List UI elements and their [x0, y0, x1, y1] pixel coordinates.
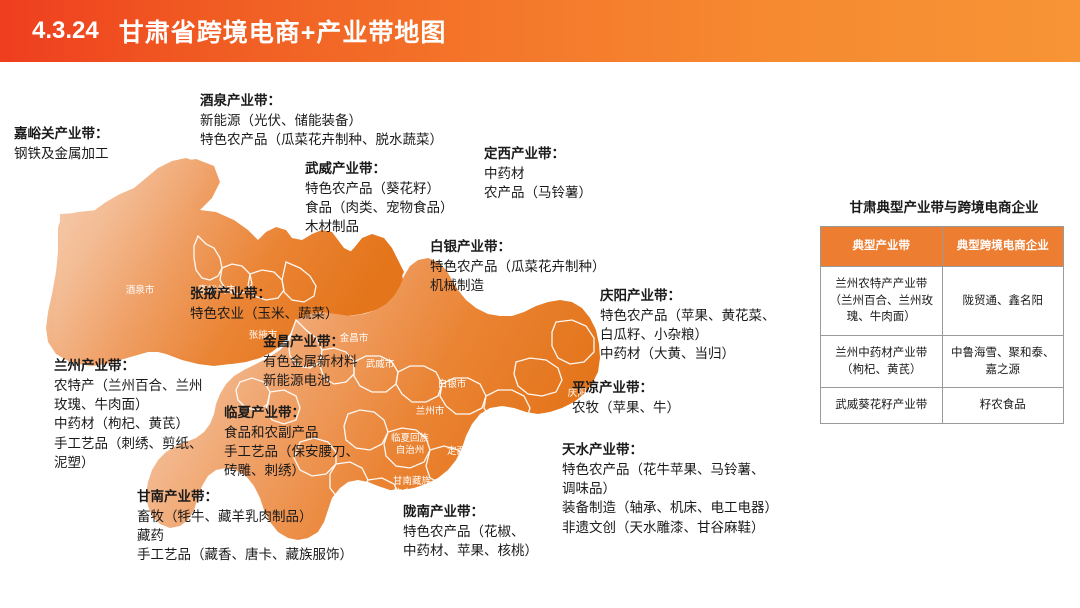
annotation-line: 农特产（兰州百合、兰州	[54, 376, 203, 395]
page-header: 4.3.24 甘肃省跨境电商+产业带地图	[0, 0, 1080, 62]
city-label-gannan-1: 甘南藏族	[393, 475, 432, 487]
annotation-title: 武威产业带：	[305, 159, 454, 178]
annotation-line: 食品和农副产品	[224, 423, 359, 442]
annotation-line: 新能源电池	[263, 371, 358, 390]
annotation-title: 临夏产业带：	[224, 403, 359, 422]
annotation-jiayuguan: 嘉峪关产业带： 钢铁及金属加工	[14, 124, 109, 163]
table-header-row: 典型产业带 典型跨境电商企业	[821, 227, 1064, 267]
annotation-line: 农产品（马铃薯）	[484, 183, 592, 202]
annotation-title: 嘉峪关产业带：	[14, 124, 109, 143]
annotation-dingxi: 定西产业带： 中药材 农产品（马铃薯）	[484, 144, 592, 202]
annotation-gannan: 甘南产业带： 畜牧（牦牛、藏羊乳肉制品） 藏药 手工艺品（藏香、唐卡、藏族服饰）	[137, 487, 353, 565]
annotation-line: 手工艺品（保安腰刀、	[224, 442, 359, 461]
annotation-line: 新能源（光伏、储能装备）	[200, 111, 443, 130]
table-cell-belt: 兰州农特产产业带（兰州百合、兰州玫瑰、牛肉面）	[821, 266, 943, 335]
annotation-title: 金昌产业带：	[263, 332, 358, 351]
city-label-lanzhou: 兰州市	[416, 405, 445, 417]
table-cell-enterprise: 陇贸通、鑫名阳	[942, 266, 1064, 335]
annotation-line: 特色农产品（苹果、黄花菜、	[600, 306, 776, 325]
annotation-title: 陇南产业带：	[403, 502, 538, 521]
annotation-title: 白银产业带：	[430, 237, 606, 256]
header-content: 4.3.24 甘肃省跨境电商+产业带地图	[32, 0, 446, 62]
table-col-industry-belt: 典型产业带	[821, 227, 943, 267]
annotation-line: 木材制品	[305, 217, 454, 236]
annotation-line: 特色农产品（瓜菜花卉制种）	[430, 257, 606, 276]
table-cell-enterprise: 籽农食品	[942, 388, 1064, 424]
annotation-line: 畜牧（牦牛、藏羊乳肉制品）	[137, 507, 353, 526]
annotation-title: 甘南产业带：	[137, 487, 353, 506]
annotation-line: 藏药	[137, 526, 353, 545]
annotation-line: 钢铁及金属加工	[14, 144, 109, 163]
annotation-pingliang: 平凉产业带： 农牧（苹果、牛）	[572, 378, 680, 417]
enterprise-panel: 甘肃典型产业带与跨境电商企业 典型产业带 典型跨境电商企业 兰州农特产产业带（兰…	[818, 196, 1070, 424]
annotation-longnan: 陇南产业带： 特色农产品（花椒、 中药材、苹果、核桃）	[403, 502, 538, 560]
city-label-dingxi: 定西地区	[447, 445, 486, 457]
annotation-title: 张掖产业带：	[190, 284, 339, 303]
city-label-linxia-1: 临夏回族	[391, 432, 430, 444]
industry-enterprise-table: 典型产业带 典型跨境电商企业 兰州农特产产业带（兰州百合、兰州玫瑰、牛肉面） 陇…	[820, 226, 1064, 424]
annotation-line: 机械制造	[430, 276, 606, 295]
annotation-line: 特色农产品（花牛苹果、马铃薯、	[562, 460, 778, 479]
page-title: 甘肃省跨境电商+产业带地图	[119, 13, 447, 49]
annotation-line: 砖雕、刺绣）	[224, 461, 359, 480]
table-row: 武威葵花籽产业带 籽农食品	[821, 388, 1064, 424]
annotation-line: 中药材（枸杞、黄芪）	[54, 414, 203, 433]
city-label-tianshui: 天水市	[502, 461, 531, 473]
annotation-line: 中药材	[484, 164, 592, 183]
table-row: 兰州中药材产业带（枸杞、黄芪） 中鲁海雪、聚和泰、嘉之源	[821, 335, 1064, 387]
city-label-wuwei: 武威市	[366, 358, 395, 370]
annotation-line: 农牧（苹果、牛）	[572, 398, 680, 417]
annotation-line: 特色农产品（花椒、	[403, 522, 538, 541]
table-cell-belt: 武威葵花籽产业带	[821, 388, 943, 424]
table-col-enterprise: 典型跨境电商企业	[942, 227, 1064, 267]
city-label-pingliang: 平凉市	[546, 419, 575, 431]
annotation-line: 中药材、苹果、核桃）	[403, 541, 538, 560]
annotation-line: 特色农产品（葵花籽）	[305, 179, 454, 198]
annotation-line: 白瓜籽、小杂粮）	[600, 325, 776, 344]
city-label-linxia-2: 自治州	[396, 444, 425, 456]
annotation-linxia: 临夏产业带： 食品和农副产品 手工艺品（保安腰刀、 砖雕、刺绣）	[224, 403, 359, 481]
annotation-tianshui: 天水产业带： 特色农产品（花牛苹果、马铃薯、 调味品） 装备制造（轴承、机床、电…	[562, 440, 778, 537]
annotation-line: 特色农产品（瓜菜花卉制种、脱水蔬菜）	[200, 130, 443, 149]
annotation-zhangye: 张掖产业带： 特色农业（玉米、蔬菜）	[190, 284, 339, 323]
annotation-line: 泥塑）	[54, 453, 203, 472]
annotation-line: 装备制造（轴承、机床、电工电器）	[562, 498, 778, 517]
panel-title: 甘肃典型产业带与跨境电商企业	[818, 196, 1070, 216]
annotation-baiyin: 白银产业带： 特色农产品（瓜菜花卉制种） 机械制造	[430, 237, 606, 295]
annotation-title: 平凉产业带：	[572, 378, 680, 397]
table-cell-enterprise: 中鲁海雪、聚和泰、嘉之源	[942, 335, 1064, 387]
city-label-jiuquan: 酒泉市	[126, 284, 155, 296]
annotation-jinchang: 金昌产业带： 有色金属新材料 新能源电池	[263, 332, 358, 390]
table-row: 兰州农特产产业带（兰州百合、兰州玫瑰、牛肉面） 陇贸通、鑫名阳	[821, 266, 1064, 335]
table-cell-belt: 兰州中药材产业带（枸杞、黄芪）	[821, 335, 943, 387]
annotation-line: 调味品）	[562, 479, 778, 498]
city-label-gannan-2: 族自治州	[393, 487, 431, 499]
annotation-line: 特色农业（玉米、蔬菜）	[190, 304, 339, 323]
city-label-baiyin: 白银市	[438, 378, 467, 390]
annotation-title: 庆阳产业带：	[600, 286, 776, 305]
annotation-title: 兰州产业带：	[54, 356, 203, 375]
header-section-number: 4.3.24	[32, 17, 99, 45]
annotation-line: 有色金属新材料	[263, 352, 358, 371]
annotation-line: 非遗文创（天水雕漆、甘谷麻鞋）	[562, 518, 778, 537]
annotation-title: 天水产业带：	[562, 440, 778, 459]
annotation-line: 手工艺品（刺绣、剪纸、	[54, 434, 203, 453]
annotation-lanzhou: 兰州产业带： 农特产（兰州百合、兰州 玫瑰、牛肉面） 中药材（枸杞、黄芪） 手工…	[54, 356, 203, 472]
annotation-wuwei: 武威产业带： 特色农产品（葵花籽） 食品（肉类、宠物食品） 木材制品	[305, 159, 454, 237]
annotation-line: 手工艺品（藏香、唐卡、藏族服饰）	[137, 545, 353, 564]
annotation-line: 玫瑰、牛肉面）	[54, 395, 203, 414]
annotation-title: 酒泉产业带：	[200, 91, 443, 110]
annotation-title: 定西产业带：	[484, 144, 592, 163]
annotation-line: 食品（肉类、宠物食品）	[305, 198, 454, 217]
annotation-line: 中药材（大黄、当归）	[600, 344, 776, 363]
annotation-jiuquan: 酒泉产业带： 新能源（光伏、储能装备） 特色农产品（瓜菜花卉制种、脱水蔬菜）	[200, 91, 443, 149]
annotation-qingyang: 庆阳产业带： 特色农产品（苹果、黄花菜、 白瓜籽、小杂粮） 中药材（大黄、当归）	[600, 286, 776, 364]
